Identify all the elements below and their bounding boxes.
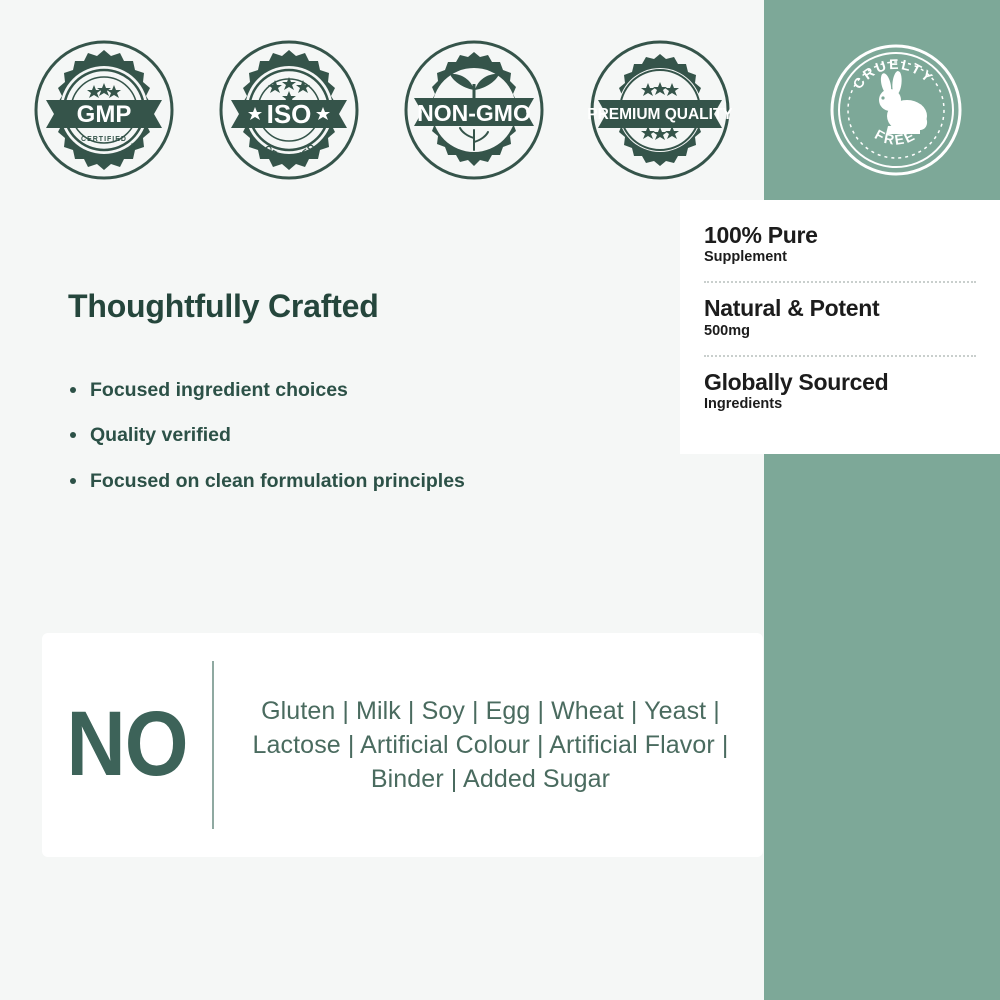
claim-title: Globally Sourced [704,369,976,395]
divider [704,281,976,283]
non-gmo-badge: NON-GMO [402,38,546,182]
bullet-dot-icon [70,478,76,484]
divider [704,355,976,357]
bullet-dot-icon [70,432,76,438]
feature-bullet-list: Focused ingredient choices Quality verif… [68,378,688,514]
gmp-certified-badge: GMP CERTIFIED Good Manufacturing Practic… [32,38,176,182]
svg-text:CERTIFIED: CERTIFIED [81,136,127,143]
claim-subtitle: 500mg [704,323,976,339]
product-feature-graphic: GMP CERTIFIED Good Manufacturing Practic… [0,0,1000,1000]
cruelty-free-badge: CRUELTY FREE [824,38,968,182]
svg-text:GMP: GMP [77,101,132,128]
list-item: Focused on clean formulation principles [68,469,688,494]
claim-subtitle: Supplement [704,249,976,265]
list-item: Focused ingredient choices [68,378,688,403]
no-label: NO [42,692,212,797]
product-claims-card: 100% Pure Supplement Natural & Potent 50… [680,200,1000,454]
svg-text:NON-GMO: NON-GMO [417,100,531,126]
claim-title: Natural & Potent [704,295,976,321]
claim-item: 100% Pure Supplement [704,218,976,271]
bullet-text: Quality verified [90,424,231,446]
premium-quality-badge: PREMIUM QUALITY [588,38,732,182]
svg-text:ISO: ISO [267,99,312,129]
iso-certified-badge: ISO CERTIFIED [217,38,361,182]
certification-badge-strip: GMP CERTIFIED Good Manufacturing Practic… [0,0,1000,195]
bullet-text: Focused on clean formulation principles [90,470,465,492]
svg-text:PREMIUM QUALITY: PREMIUM QUALITY [588,106,732,123]
claim-title: 100% Pure [704,222,976,248]
section-headline: Thoughtfully Crafted [68,288,379,325]
bullet-text: Focused ingredient choices [90,379,348,401]
list-item: Quality verified [68,423,688,448]
allergen-list: Gluten | Milk | Soy | Egg | Wheat | Yeas… [214,694,763,796]
claim-item: Globally Sourced Ingredients [704,365,976,418]
claim-item: Natural & Potent 500mg [704,291,976,344]
free-from-allergens-card: NO Gluten | Milk | Soy | Egg | Wheat | Y… [42,633,763,857]
claim-subtitle: Ingredients [704,396,976,412]
bullet-dot-icon [70,387,76,393]
